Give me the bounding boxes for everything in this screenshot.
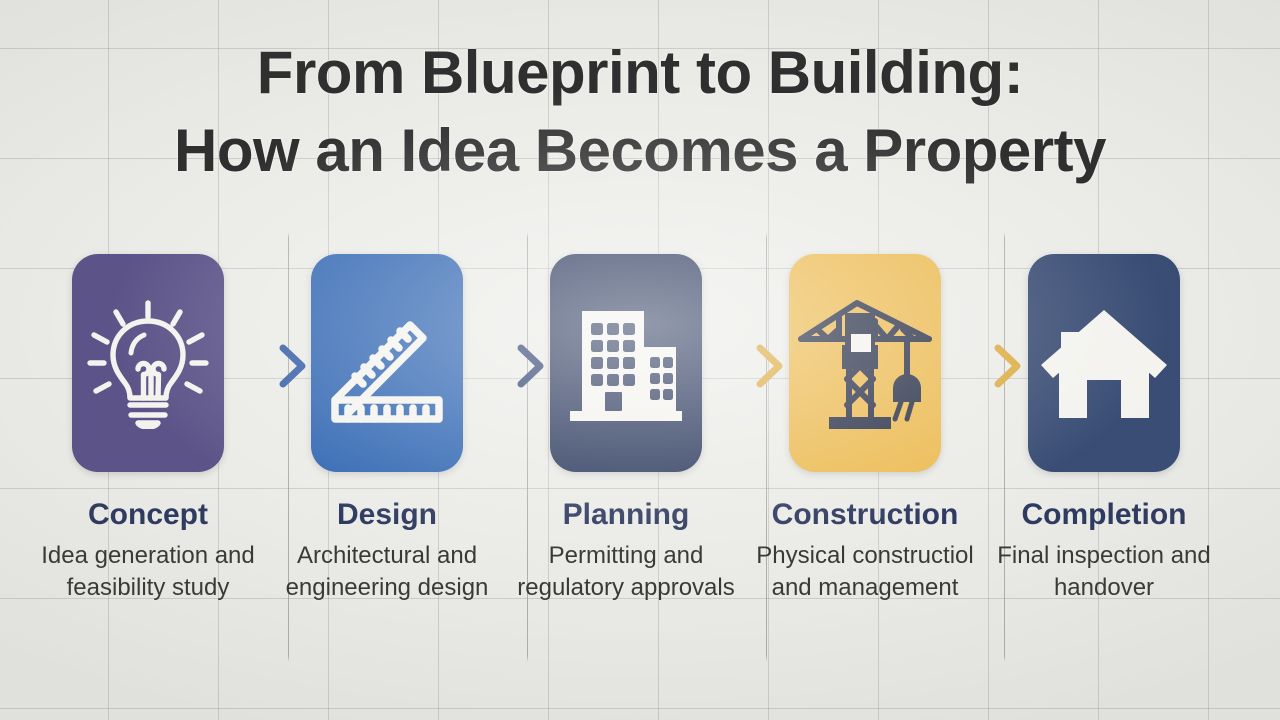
step-completion-card[interactable] bbox=[1028, 254, 1180, 472]
ruler-icon bbox=[322, 298, 452, 428]
title-line-2: How an Idea Becomes a Property bbox=[0, 112, 1280, 190]
title-line-1: From Blueprint to Building: bbox=[0, 34, 1280, 112]
house-icon bbox=[1037, 302, 1171, 424]
step-completion[interactable]: Completion Final inspection and handover bbox=[984, 232, 1224, 680]
step-construction-card[interactable] bbox=[789, 254, 941, 472]
step-concept[interactable]: Concept Idea generation and feasibility … bbox=[28, 232, 268, 680]
step-design-description: Architectural and engineering design bbox=[267, 540, 507, 604]
step-planning-title: Planning bbox=[506, 498, 746, 532]
lightbulb-icon bbox=[86, 297, 210, 429]
step-design-card[interactable] bbox=[311, 254, 463, 472]
infographic-canvas: From Blueprint to Building: How an Idea … bbox=[0, 0, 1280, 720]
tower-crane-icon bbox=[795, 293, 935, 433]
process-steps-row: Concept Idea generation and feasibility … bbox=[0, 232, 1280, 682]
step-concept-description: Idea generation and feasibility study bbox=[28, 540, 268, 604]
step-planning-card[interactable] bbox=[550, 254, 702, 472]
step-planning[interactable]: Planning Permitting and regulatory appro… bbox=[506, 232, 746, 680]
step-design[interactable]: Design Architectural and engineering des… bbox=[267, 232, 507, 680]
step-construction[interactable]: Construction Physical constructiol and m… bbox=[745, 232, 985, 680]
step-design-title: Design bbox=[267, 498, 507, 532]
step-construction-title: Construction bbox=[745, 498, 985, 532]
office-buildings-icon bbox=[560, 299, 692, 427]
page-title: From Blueprint to Building: How an Idea … bbox=[0, 34, 1280, 190]
step-planning-description: Permitting and regulatory approvals bbox=[506, 540, 746, 604]
step-concept-card[interactable] bbox=[72, 254, 224, 472]
step-construction-description: Physical constructiol and management bbox=[745, 540, 985, 604]
step-completion-description: Final inspection and handover bbox=[984, 540, 1224, 604]
step-completion-title: Completion bbox=[984, 498, 1224, 532]
step-concept-title: Concept bbox=[28, 498, 268, 532]
